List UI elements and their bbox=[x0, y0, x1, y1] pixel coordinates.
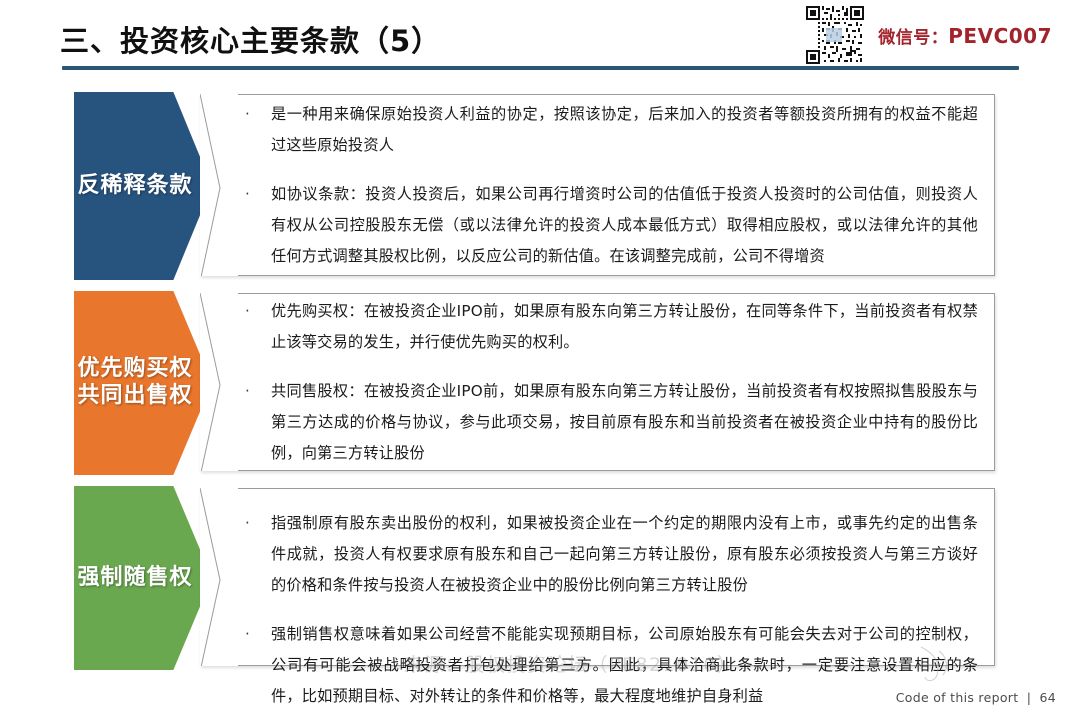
wechat-id-label: 微信号：PEVC007 bbox=[878, 23, 1052, 48]
panel-notch-icon bbox=[200, 293, 238, 471]
footer-label: Code of this report bbox=[896, 690, 1019, 705]
list-item: · 共同售股权：在被投资企业IPO前，如果原有股东向第三方转让股份，当前投资者有… bbox=[245, 376, 978, 469]
slide-header: 三、投资核心主要条款（5） bbox=[0, 0, 1080, 80]
bullet-text: 优先购买权：在被投资企业IPO前，如果原有股东向第三方转让股份，在同等条件下，当… bbox=[271, 296, 978, 358]
bullet-text: 强制销售权意味着如果公司经营不能能实现预期目标，公司原始股东有可能会失去对于公司… bbox=[271, 619, 978, 712]
footer-page-number: 64 bbox=[1039, 690, 1056, 705]
bullet-marker: · bbox=[245, 376, 271, 407]
wechat-prefix: 微信号： bbox=[878, 28, 948, 48]
term-row-anti-dilution: 反稀释条款 · 是一种用来确保原始投资人利益的协定，按照该协定，后来加入的投资者… bbox=[0, 92, 1080, 280]
chevron-label-anti-dilution: 反稀释条款 bbox=[74, 92, 212, 280]
brand-block: 微信号：PEVC007 bbox=[806, 6, 1052, 64]
wechat-id-value: PEVC007 bbox=[948, 24, 1052, 48]
qr-code-icon bbox=[806, 6, 864, 64]
content-panel-rofr-cosale: · 优先购买权：在被投资企业IPO前，如果原有股东向第三方转让股份，在同等条件下… bbox=[200, 293, 995, 471]
chevron-label-text: 强制随售权 bbox=[77, 565, 192, 592]
bullet-marker: · bbox=[245, 619, 271, 650]
bullet-marker: · bbox=[245, 296, 271, 327]
chevron-label-text: 优先购买权 共同出售权 bbox=[77, 356, 192, 410]
list-item: · 如协议条款：投资人投资后，如果公司再行增资时公司的估值低于投资人投资时的公司… bbox=[245, 179, 978, 272]
list-item: · 优先购买权：在被投资企业IPO前，如果原有股东向第三方转让股份，在同等条件下… bbox=[245, 296, 978, 358]
term-row-rofr-cosale: 优先购买权 共同出售权 · 优先购买权：在被投资企业IPO前，如果原有股东向第三… bbox=[0, 291, 1080, 475]
footer: Code of this report | 64 bbox=[896, 690, 1056, 705]
bullet-text: 如协议条款：投资人投资后，如果公司再行增资时公司的估值低于投资人投资时的公司估值… bbox=[271, 179, 978, 272]
slide-root: 三、投资核心主要条款（5） bbox=[0, 0, 1080, 715]
bullet-text: 指强制原有股东卖出股份的权利，如果被投资企业在一个约定的期限内没有上市，或事先约… bbox=[271, 508, 978, 601]
bullet-list: · 指强制原有股东卖出股份的权利，如果被投资企业在一个约定的期限内没有上市，或事… bbox=[245, 489, 978, 665]
panel-notch-icon bbox=[200, 488, 238, 666]
header-divider bbox=[62, 66, 1019, 70]
footer-separator: | bbox=[1023, 690, 1036, 705]
panel-notch-icon bbox=[200, 94, 238, 276]
content-panel-drag-along: · 指强制原有股东卖出股份的权利，如果被投资企业在一个约定的期限内没有上市，或事… bbox=[200, 488, 995, 666]
chevron-label-drag-along: 强制随售权 bbox=[74, 486, 212, 670]
content-rows: 反稀释条款 · 是一种用来确保原始投资人利益的协定，按照该协定，后来加入的投资者… bbox=[0, 92, 1080, 681]
term-row-drag-along: 强制随售权 · 指强制原有股东卖出股份的权利，如果被投资企业在一个约定的期限内没… bbox=[0, 486, 1080, 670]
chevron-label-rofr-cosale: 优先购买权 共同出售权 bbox=[74, 291, 212, 475]
bullet-marker: · bbox=[245, 99, 271, 130]
content-panel-anti-dilution: · 是一种用来确保原始投资人利益的协定，按照该协定，后来加入的投资者等额投资所拥… bbox=[200, 94, 995, 276]
bullet-list: · 是一种用来确保原始投资人利益的协定，按照该协定，后来加入的投资者等额投资所拥… bbox=[245, 95, 978, 275]
bullet-text: 共同售股权：在被投资企业IPO前，如果原有股东向第三方转让股份，当前投资者有权按… bbox=[271, 376, 978, 469]
bullet-marker: · bbox=[245, 508, 271, 539]
bullet-marker: · bbox=[245, 179, 271, 210]
bullet-list: · 优先购买权：在被投资企业IPO前，如果原有股东向第三方转让股份，在同等条件下… bbox=[245, 294, 978, 470]
list-item: · 强制销售权意味着如果公司经营不能能实现预期目标，公司原始股东有可能会失去对于… bbox=[245, 619, 978, 712]
page-title: 三、投资核心主要条款（5） bbox=[60, 18, 441, 60]
bullet-text: 是一种用来确保原始投资人利益的协定，按照该协定，后来加入的投资者等额投资所拥有的… bbox=[271, 99, 978, 161]
list-item: · 指强制原有股东卖出股份的权利，如果被投资企业在一个约定的期限内没有上市，或事… bbox=[245, 508, 978, 601]
chevron-label-text: 反稀释条款 bbox=[77, 173, 192, 200]
list-item: · 是一种用来确保原始投资人利益的协定，按照该协定，后来加入的投资者等额投资所拥… bbox=[245, 99, 978, 161]
